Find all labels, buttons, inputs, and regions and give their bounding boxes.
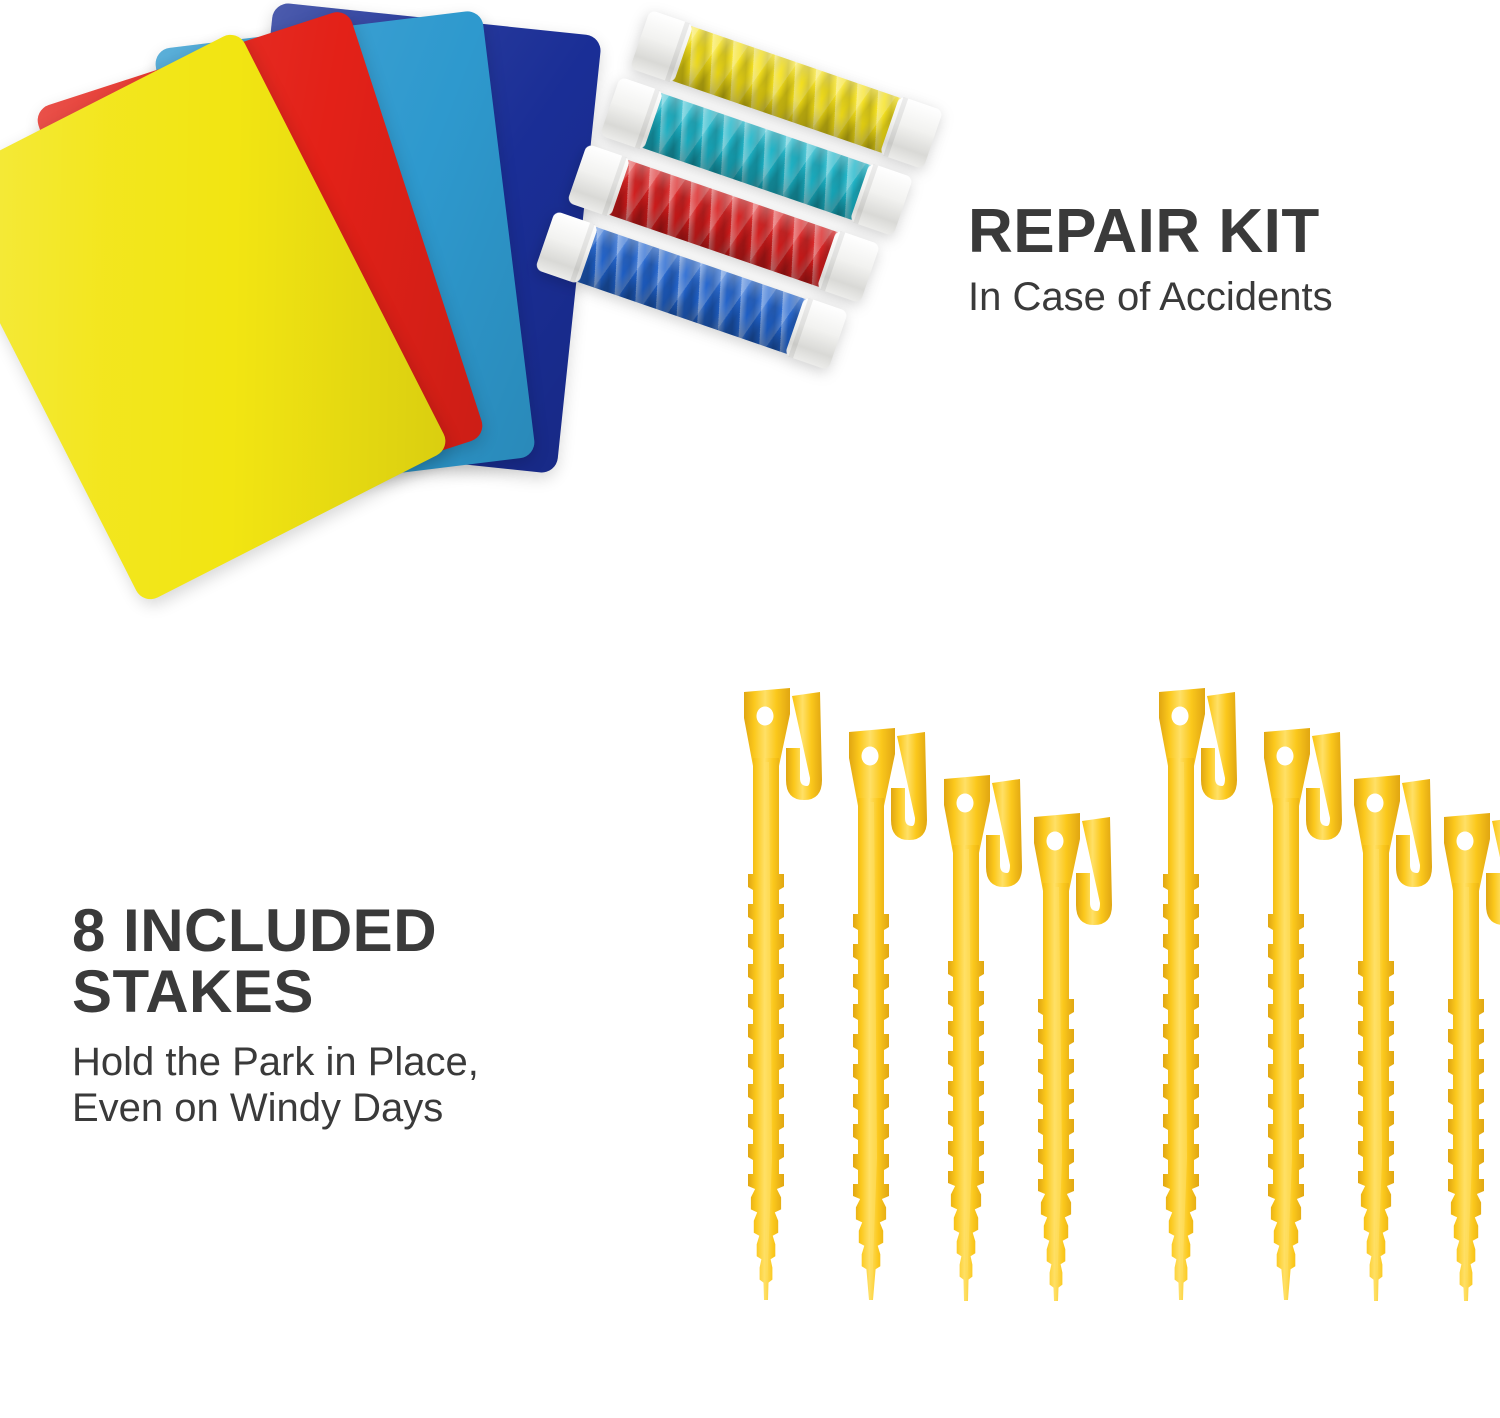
stakes-callout: 8 INCLUDED STAKES Hold the Park in Place… — [72, 900, 692, 1132]
stakes-headline: 8 INCLUDED STAKES — [72, 900, 692, 1022]
stake-8 — [1440, 813, 1500, 1309]
stake-hook-arm — [1396, 779, 1432, 887]
stake-group-right — [700, 680, 1500, 1380]
thread-spool-stack — [545, 0, 965, 390]
stake-head — [1159, 688, 1205, 766]
stake-peg-hole — [1172, 707, 1189, 726]
stake-hook-arm — [1201, 692, 1237, 800]
stake-peg-hole — [1277, 747, 1294, 766]
repair-kit-callout: REPAIR KIT In Case of Accidents — [968, 200, 1488, 321]
stakes-subline: Hold the Park in Place, Even on Windy Da… — [72, 1040, 692, 1131]
stake-peg-hole — [1367, 794, 1384, 813]
stake-hook-arm — [1306, 732, 1342, 840]
stake-head — [1354, 775, 1400, 853]
repair-kit-subline: In Case of Accidents — [968, 275, 1488, 321]
product-feature-image: REPAIR KIT In Case of Accidents 8 INCLUD… — [0, 0, 1500, 1418]
stake-head — [1444, 813, 1490, 891]
stake-head — [1264, 728, 1310, 806]
stake-5 — [1155, 688, 1265, 1308]
repair-kit-headline: REPAIR KIT — [968, 200, 1488, 263]
stake-peg-hole — [1457, 832, 1474, 851]
tent-stake-set — [700, 680, 1500, 1380]
